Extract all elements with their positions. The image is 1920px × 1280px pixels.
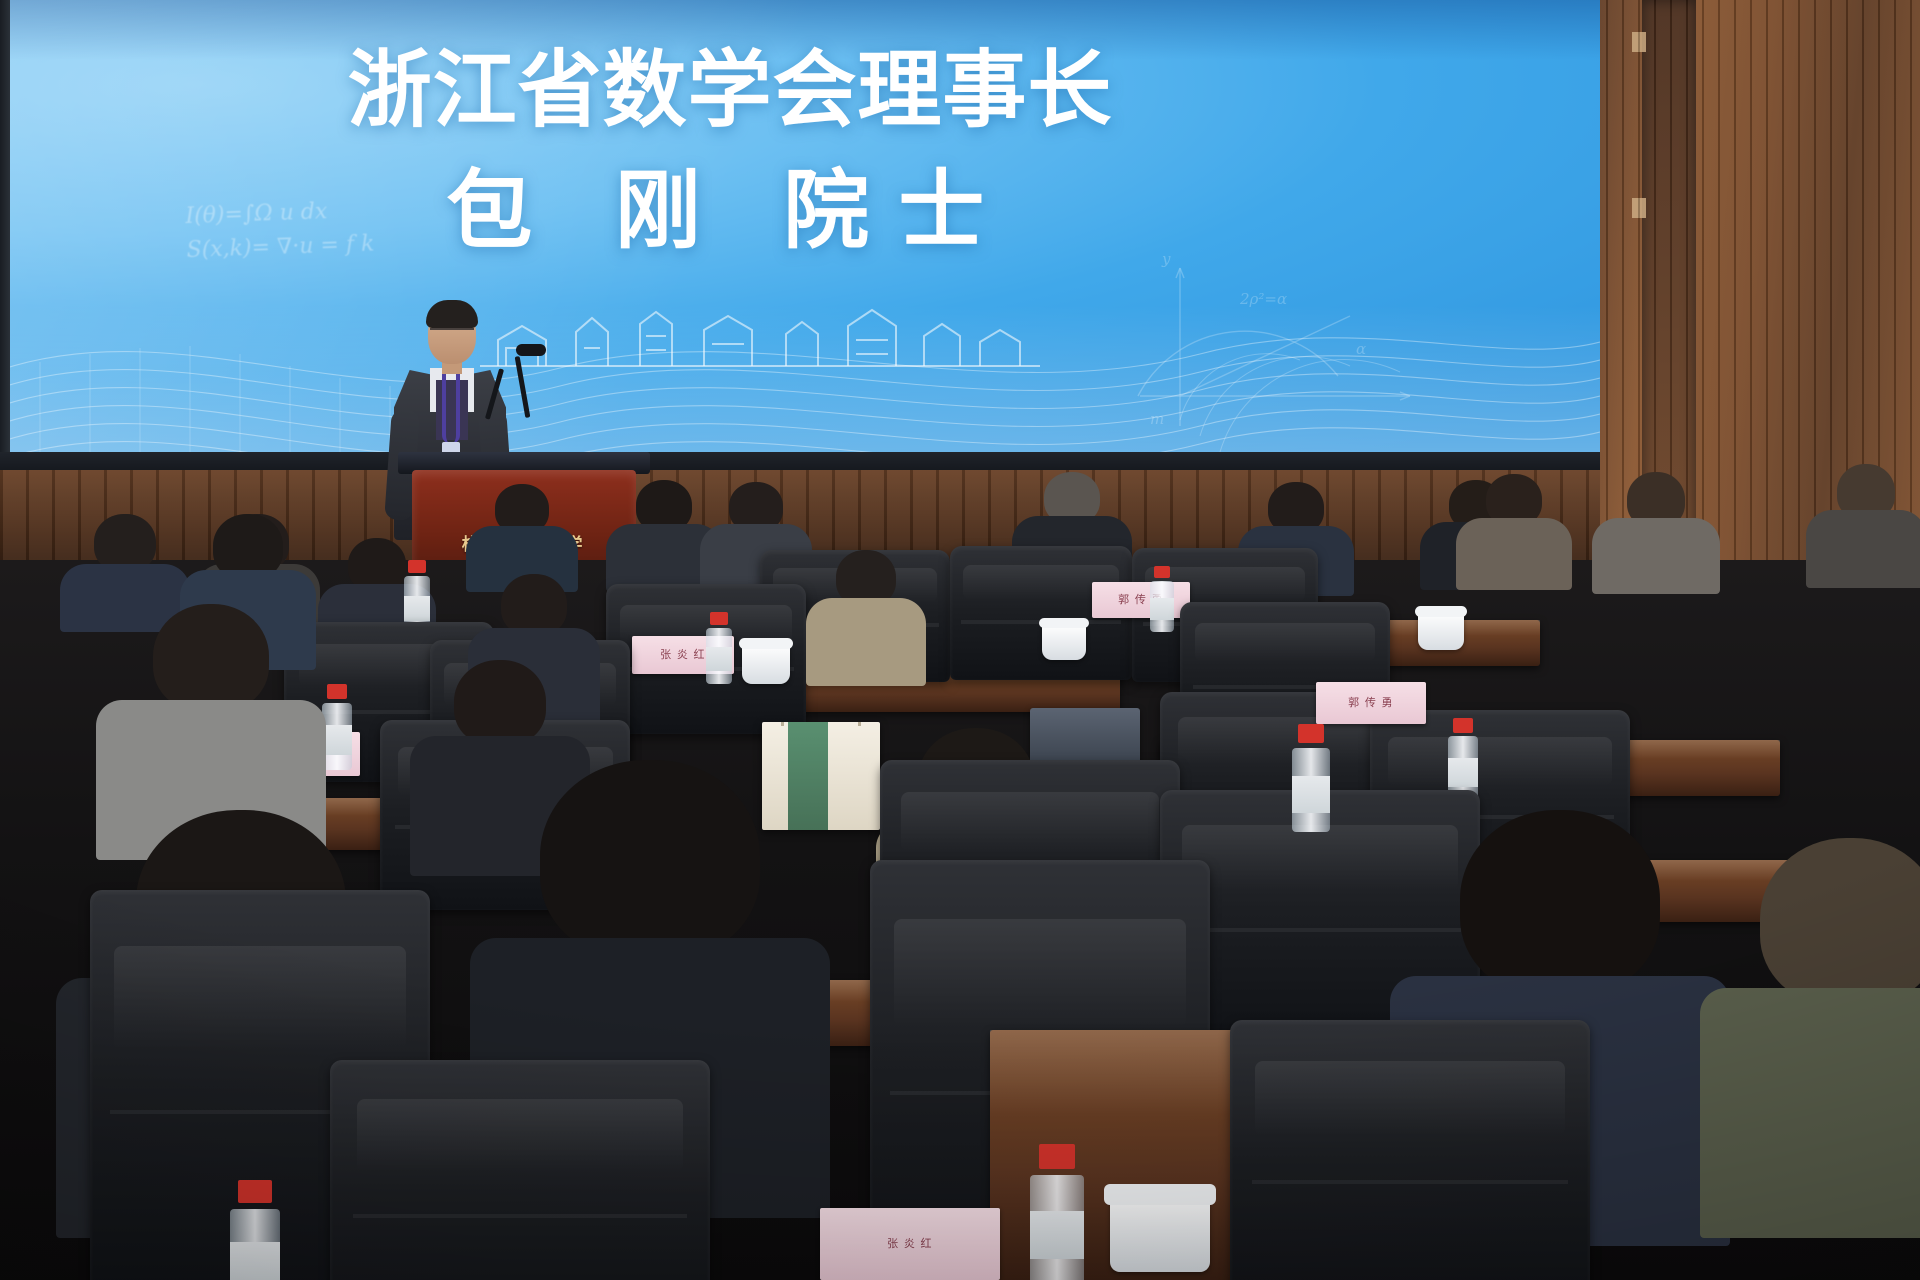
water-bottle: [1030, 1144, 1084, 1280]
screen-frame-left: [0, 0, 10, 470]
slide-title-line1: 浙江省数学会理事长: [0, 0, 1460, 132]
person-head: [153, 604, 269, 712]
person-head: [1460, 810, 1660, 996]
tea-cup: [742, 644, 790, 684]
water-bottle: [230, 1180, 280, 1280]
person-torso: [1456, 518, 1572, 590]
water-bottle: [706, 612, 732, 684]
audience-person: [1806, 464, 1920, 584]
audience-person: [806, 550, 926, 680]
glasses-icon: [430, 328, 474, 337]
tea-cup: [1042, 624, 1086, 660]
slide-title-line2: 包 刚 院士: [0, 132, 1460, 254]
person-head: [1760, 838, 1920, 1006]
audience-person-foreground: [1700, 838, 1920, 1218]
projection-screen: y 2ρ²=α α m I(θ)=∫Ω u dx S(x,k)= ∇·u = f…: [0, 0, 1600, 470]
slide-title: 浙江省数学会理事长 包 刚 院士: [0, 0, 1460, 254]
water-bottle: [1150, 566, 1174, 632]
person-head: [540, 760, 760, 960]
audience-person: [1456, 474, 1572, 586]
audience-person: [1592, 472, 1720, 590]
auditorium-chair: [1230, 1020, 1590, 1280]
speaker-hair: [426, 300, 478, 328]
person-torso: [806, 598, 926, 686]
person-torso: [1592, 518, 1720, 594]
name-card: 郭 传 勇: [1092, 582, 1190, 618]
name-card: 张 炎 红: [820, 1208, 1000, 1280]
person-torso: [1700, 988, 1920, 1238]
wall-marker-icon: [1632, 198, 1646, 218]
speaker-lanyard: [442, 374, 460, 444]
person-head: [454, 660, 546, 746]
person-head: [501, 574, 567, 636]
audience-person: [96, 604, 326, 844]
name-card: 郭 传 勇: [1316, 682, 1426, 724]
microphone-head-icon: [516, 344, 546, 356]
tea-cup: [1418, 612, 1464, 650]
water-bottle: [322, 684, 352, 770]
conference-photo: y 2ρ²=α α m I(θ)=∫Ω u dx S(x,k)= ∇·u = f…: [0, 0, 1920, 1280]
person-torso: [1806, 510, 1920, 588]
water-bottle: [1292, 724, 1330, 832]
tea-cup: [1110, 1196, 1210, 1272]
auditorium-chair: [330, 1060, 710, 1280]
audience-person: [466, 484, 578, 588]
audience-hall: 郭 传 勇 张 炎 红: [0, 560, 1920, 1280]
wall-marker-icon: [1632, 32, 1646, 52]
